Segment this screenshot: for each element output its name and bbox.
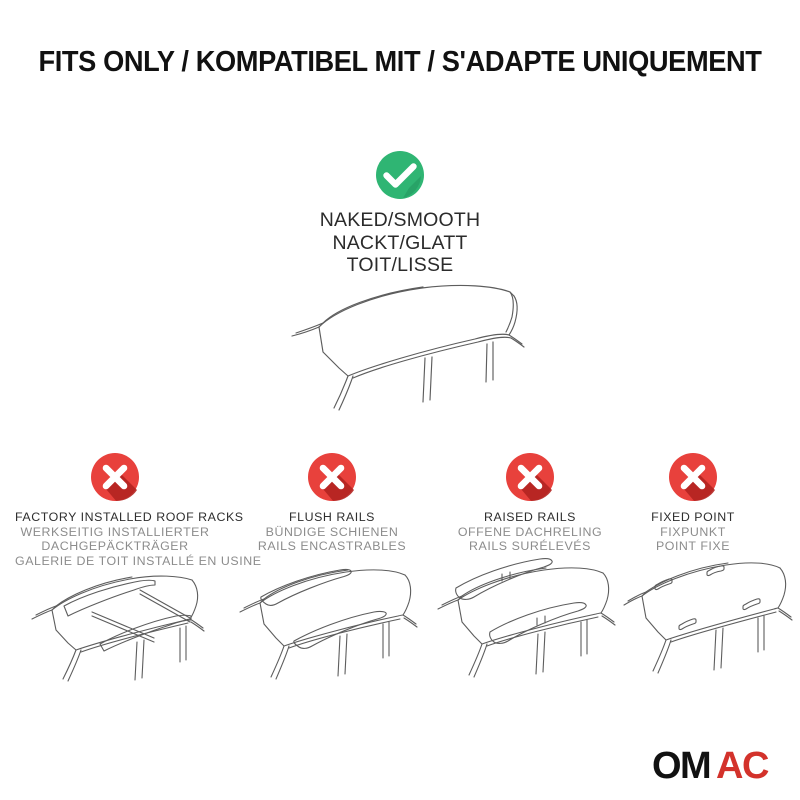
rejected-roof-type-raised-rails: RAISED RAILS OFFENE DACHRELING RAILS SUR…: [430, 452, 630, 554]
x-icon-wrap-raised-rails: [430, 452, 630, 504]
x-circle-icon: [307, 452, 357, 502]
check-circle-icon: [375, 150, 425, 200]
car-roof-factory-rack-diagram: [12, 548, 227, 688]
label-flush-rails-de: BÜNDIGE SCHIENEN: [232, 525, 432, 540]
rejected-roof-type-fixed-point: FIXED POINT FIXPUNKT POINT FIXE: [608, 452, 778, 554]
label-factory-racks-de-1: WERKSEITIG INSTALLIERTER: [15, 525, 215, 540]
label-factory-racks-en: FACTORY INSTALLED ROOF RACKS: [15, 510, 215, 525]
rejected-roof-type-flush-rails: FLUSH RAILS BÜNDIGE SCHIENEN RAILS ENCAS…: [232, 452, 432, 554]
x-icon-wrap-factory-racks: [15, 452, 215, 504]
x-circle-icon: [505, 452, 555, 502]
label-fixed-point-de: FIXPUNKT: [608, 525, 778, 540]
approved-label-de: NACKT/GLATT: [0, 232, 800, 255]
omac-logo-text-dark: OM: [652, 748, 710, 784]
car-roof-raised-rails-diagram: [430, 548, 640, 688]
omac-logo: OM AC: [652, 748, 782, 784]
label-raised-rails-en: RAISED RAILS: [430, 510, 630, 525]
car-roof-flush-rails-diagram: [228, 548, 438, 688]
approved-roof-type-labels: NAKED/SMOOTH NACKT/GLATT TOIT/LISSE: [0, 209, 800, 277]
omac-logo-text-accent: AC: [716, 748, 769, 784]
approved-roof-type-section: NAKED/SMOOTH NACKT/GLATT TOIT/LISSE: [0, 150, 800, 277]
x-circle-icon: [668, 452, 718, 502]
x-circle-icon: [90, 452, 140, 502]
label-flush-rails-en: FLUSH RAILS: [232, 510, 432, 525]
car-roof-naked-smooth-diagram: [262, 272, 562, 422]
label-raised-rails-de: OFFENE DACHRELING: [430, 525, 630, 540]
approved-label-en: NAKED/SMOOTH: [0, 209, 800, 232]
page-title: FITS ONLY / KOMPATIBEL MIT / S'ADAPTE UN…: [18, 46, 782, 79]
x-icon-wrap-flush-rails: [232, 452, 432, 504]
car-roof-fixed-point-diagram: [620, 548, 800, 688]
page-title-bar: FITS ONLY / KOMPATIBEL MIT / S'ADAPTE UN…: [0, 46, 800, 79]
label-fixed-point-en: FIXED POINT: [608, 510, 778, 525]
x-icon-wrap-fixed-point: [608, 452, 778, 504]
